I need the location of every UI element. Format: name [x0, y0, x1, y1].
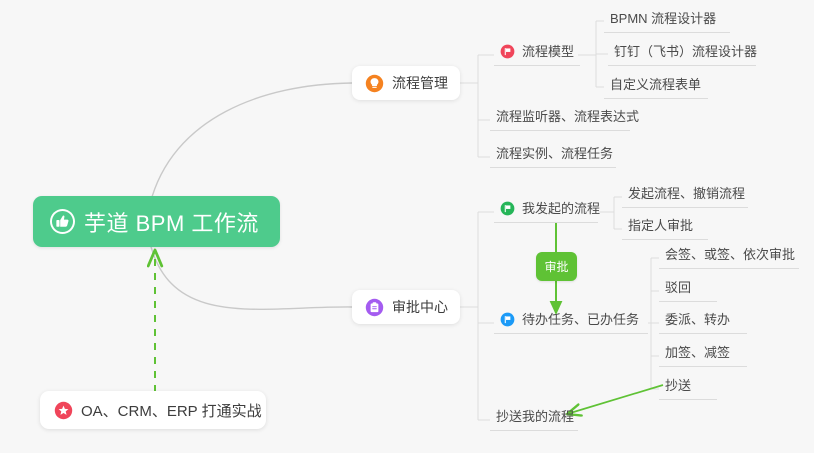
topic-cc-to-me-flows[interactable]: 抄送我的流程 [490, 408, 578, 431]
topic-assignee-approval-label: 指定人审批 [628, 217, 693, 234]
arrow-copy-to-myflow [567, 385, 663, 414]
note-card-oa-crm-erp[interactable]: OA、CRM、ERP 打通实战 [40, 391, 266, 429]
topic-dingtalk-designer[interactable]: 钉钉（飞书）流程设计器 [608, 43, 756, 66]
lightbulb-icon [365, 74, 384, 93]
branch-shenpi-zhongxin-label: 审批中心 [392, 297, 448, 317]
topic-custom-form-label: 自定义流程表单 [610, 76, 701, 93]
flag-icon [500, 44, 515, 59]
approval-tag[interactable]: 审批 [536, 252, 577, 281]
topic-reject[interactable]: 驳回 [659, 279, 717, 302]
mindmap-canvas: 芋道 BPM 工作流 OA、CRM、ERP 打通实战 流程管理 [0, 0, 814, 453]
topic-instance-task[interactable]: 流程实例、流程任务 [490, 145, 616, 168]
topic-assignee-approval[interactable]: 指定人审批 [622, 217, 708, 240]
topic-listener-expression-label: 流程监听器、流程表达式 [496, 108, 639, 125]
flag-icon [500, 312, 515, 327]
topic-delegate-transfer[interactable]: 委派、转办 [659, 311, 747, 334]
topic-listener-expression[interactable]: 流程监听器、流程表达式 [490, 108, 630, 131]
approval-tag-label: 审批 [544, 258, 568, 275]
topic-bpmn-designer-label: BPMN 流程设计器 [610, 10, 716, 27]
branch-liucheng-guanli-label: 流程管理 [392, 73, 448, 93]
root-node[interactable]: 芋道 BPM 工作流 [33, 196, 280, 247]
topic-cc-to-me-flows-label: 抄送我的流程 [496, 408, 574, 425]
link-root-to-liucheng [150, 83, 352, 204]
flag-icon [500, 201, 515, 216]
topic-cc-label: 抄送 [665, 377, 691, 394]
topic-bpmn-designer[interactable]: BPMN 流程设计器 [604, 10, 730, 33]
branch-shenpi-zhongxin[interactable]: 审批中心 [352, 290, 460, 324]
topic-instance-task-label: 流程实例、流程任务 [496, 145, 613, 162]
topic-dingtalk-designer-label: 钉钉（飞书）流程设计器 [614, 43, 757, 60]
clipboard-icon [365, 298, 384, 317]
topic-reject-label: 驳回 [665, 279, 691, 296]
topic-add-remove-sign[interactable]: 加签、减签 [659, 344, 747, 367]
topic-liucheng-moxing-label: 流程模型 [522, 43, 574, 60]
topic-add-remove-sign-label: 加签、减签 [665, 344, 730, 361]
topic-start-cancel-flow-label: 发起流程、撤销流程 [628, 185, 745, 202]
topic-start-cancel-flow[interactable]: 发起流程、撤销流程 [622, 185, 748, 208]
root-label: 芋道 BPM 工作流 [84, 206, 259, 238]
topic-my-initiated-flows-label: 我发起的流程 [522, 200, 600, 217]
topic-countersign-modes[interactable]: 会签、或签、依次审批 [659, 246, 799, 269]
link-root-to-shenpi [150, 243, 352, 309]
topic-delegate-transfer-label: 委派、转办 [665, 311, 730, 328]
star-icon [54, 401, 73, 420]
branch-liucheng-guanli[interactable]: 流程管理 [352, 66, 460, 100]
topic-my-initiated-flows[interactable]: 我发起的流程 [494, 200, 598, 223]
topic-countersign-modes-label: 会签、或签、依次审批 [665, 246, 795, 263]
note-card-label: OA、CRM、ERP 打通实战 [81, 400, 262, 421]
topic-custom-form[interactable]: 自定义流程表单 [604, 76, 708, 99]
topic-cc[interactable]: 抄送 [659, 377, 717, 400]
topic-liucheng-moxing[interactable]: 流程模型 [494, 43, 580, 66]
topic-todo-done-tasks-label: 待办任务、已办任务 [522, 311, 639, 328]
topic-todo-done-tasks[interactable]: 待办任务、已办任务 [494, 311, 648, 334]
thumbs-up-icon [50, 209, 75, 234]
